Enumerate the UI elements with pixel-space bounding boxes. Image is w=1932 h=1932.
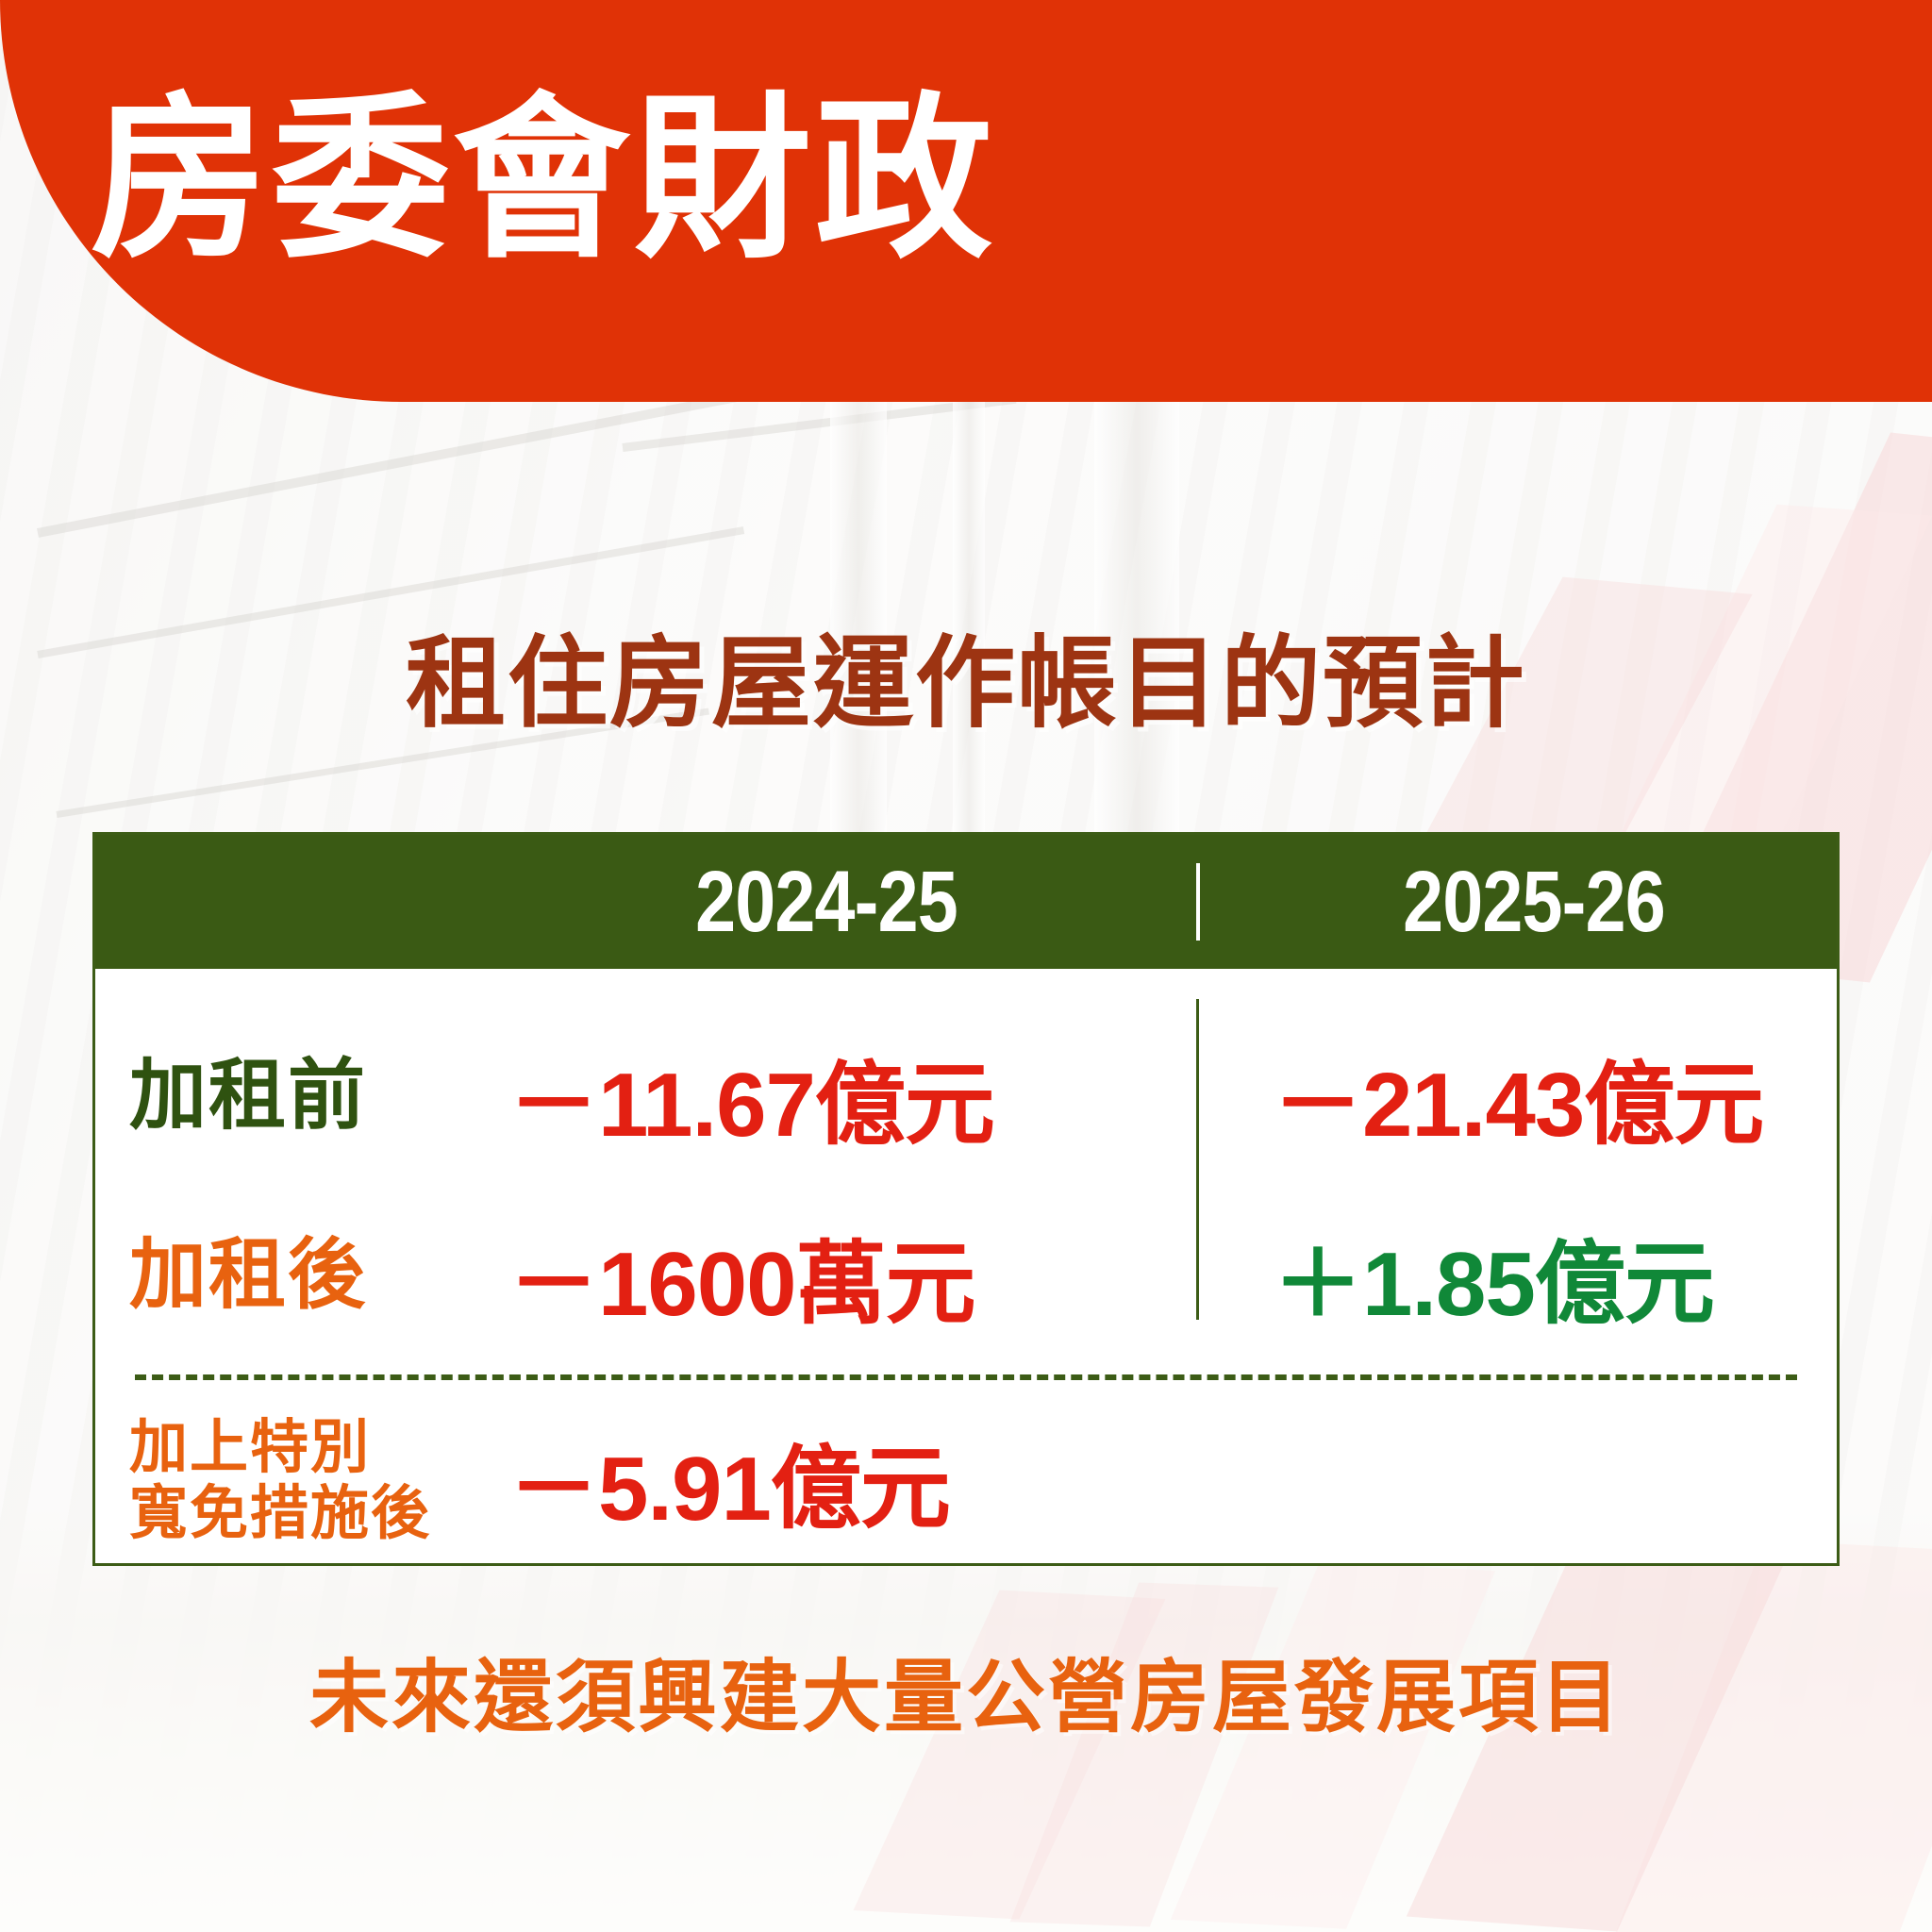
- table-row: 加上特別 寬免措施後 －5.91億元: [95, 1398, 1837, 1563]
- finance-table: 2024-25 2025-26 加租前 －11.67億元 －21.43億元 加租…: [92, 832, 1840, 1566]
- row-label-before-increase: 加租前: [129, 1058, 367, 1135]
- table-header-row: 2024-25 2025-26: [95, 835, 1837, 969]
- page-title: 房委會財政: [91, 91, 996, 268]
- row-label-with-waiver-line2: 寬免措施後: [129, 1481, 431, 1546]
- infographic-poster: 房委會財政 租住房屋運作帳目的預計 2024-25 2025-26 加租前 －1…: [0, 0, 1932, 1932]
- section-title: 租住房屋運作帳目的預計: [0, 634, 1932, 734]
- dashed-separator: [135, 1374, 1797, 1380]
- column-header-2025-26: 2025-26: [1289, 835, 1780, 969]
- value-2024-25-after-increase: －1600萬元: [508, 1210, 975, 1341]
- value-2024-25-before-increase: －11.67億元: [508, 1031, 994, 1162]
- value-2025-26-before-increase: －21.43億元: [1273, 1031, 1763, 1162]
- header-column-divider: [1196, 863, 1200, 941]
- row-label-after-increase: 加租後: [129, 1237, 367, 1314]
- footer-note: 未來還須興建大量公營房屋發展項目: [0, 1634, 1932, 1748]
- table-row: 加租前 －11.67億元 －21.43億元: [95, 1007, 1837, 1186]
- value-2025-26-after-increase: ＋1.85億元: [1273, 1210, 1714, 1341]
- table-body: 加租前 －11.67億元 －21.43億元 加租後 －1600萬元 ＋1.85億…: [95, 969, 1837, 1563]
- table-row: 加租後 －1600萬元 ＋1.85億元: [95, 1186, 1837, 1365]
- row-label-with-waiver-line1: 加上特別: [129, 1415, 431, 1480]
- value-2024-25-with-waiver: －5.91億元: [508, 1415, 950, 1546]
- column-header-2024-25: 2024-25: [553, 835, 1100, 969]
- row-label-with-waiver: 加上特別 寬免措施後: [129, 1415, 431, 1546]
